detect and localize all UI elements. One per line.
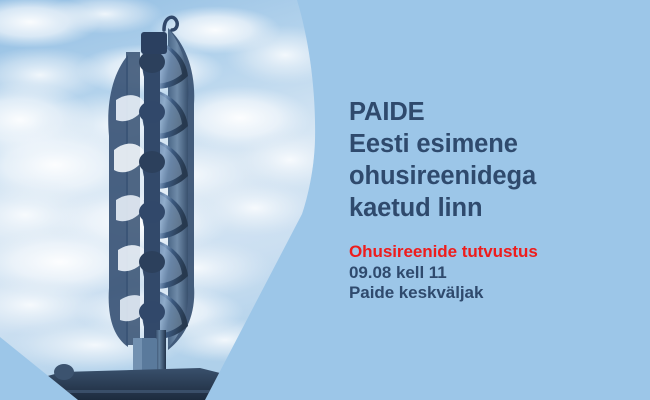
siren-photo xyxy=(0,0,330,400)
headline-line-3: kaetud linn xyxy=(349,192,639,224)
headline-line-city: PAIDE xyxy=(349,96,639,128)
headline-line-1: Eesti esimene xyxy=(349,128,639,160)
headline-block: PAIDE Eesti esimene ohusireenidega kaetu… xyxy=(349,96,639,224)
headline-line-2: ohusireenidega xyxy=(349,160,639,192)
text-column: PAIDE Eesti esimene ohusireenidega kaetu… xyxy=(349,0,639,400)
roof-vent xyxy=(54,364,74,380)
event-location: Paide keskväljak xyxy=(349,283,639,304)
event-title: Ohusireenide tutvustus xyxy=(349,242,639,263)
event-details-block: Ohusireenide tutvustus 09.08 kell 11 Pai… xyxy=(349,242,639,304)
event-date: 09.08 kell 11 xyxy=(349,263,639,284)
photo-panel xyxy=(0,0,330,400)
siren-top-bracket xyxy=(141,32,167,54)
poster-canvas: PAIDE Eesti esimene ohusireenidega kaetu… xyxy=(0,0,650,400)
